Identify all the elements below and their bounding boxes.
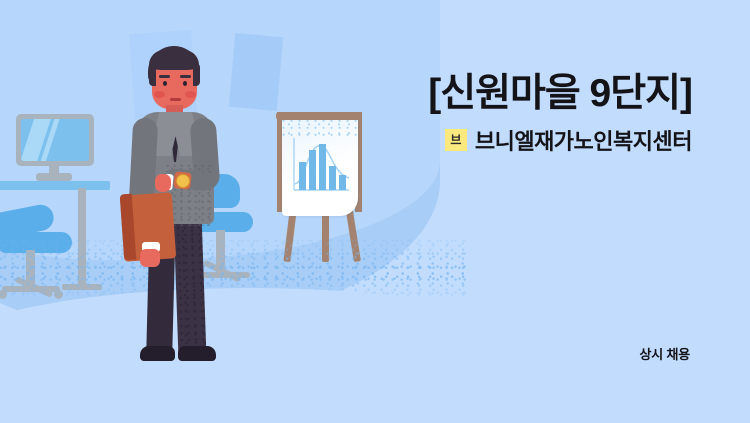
cheek-right <box>185 91 196 98</box>
shoe-left <box>140 346 175 361</box>
cheek-left <box>154 91 165 98</box>
eye-right <box>183 81 187 86</box>
hand-raised <box>155 174 171 192</box>
flipchart-paper <box>282 118 358 216</box>
sideburn-right <box>193 64 200 86</box>
desk-top <box>0 181 110 190</box>
eyebrow-left <box>159 75 170 78</box>
hand-holding-briefcase <box>140 249 160 267</box>
sideburn-left <box>149 64 156 86</box>
trouser-texture <box>176 226 206 347</box>
eye-left <box>163 81 167 86</box>
bar-chart-graphic <box>291 136 351 198</box>
mouth <box>170 98 181 101</box>
brand-row: 브 브니엘재가노인복지센터 <box>428 124 692 156</box>
monitor-screen <box>21 119 89 161</box>
brand-badge-icon: 브 <box>445 129 467 151</box>
office-illustration <box>0 0 470 423</box>
wristwatch-icon <box>176 174 190 188</box>
organization-name: 브니엘재가노인복지센터 <box>475 124 692 156</box>
easel-tray <box>276 112 362 120</box>
monitor-base <box>36 173 72 181</box>
hiring-status-badge: 상시 채용 <box>640 344 690 363</box>
businessman-figure <box>118 46 248 366</box>
eyebrow-right <box>180 75 191 78</box>
job-posting-poster: [신원마을 9단지] 브 브니엘재가노인복지센터 상시 채용 <box>0 0 750 423</box>
poster-text-block: [신원마을 9단지] 브 브니엘재가노인복지센터 <box>428 74 692 156</box>
hair-front <box>149 50 199 70</box>
shoe-right <box>178 346 216 361</box>
page-title: [신원마을 9단지] <box>428 74 692 115</box>
